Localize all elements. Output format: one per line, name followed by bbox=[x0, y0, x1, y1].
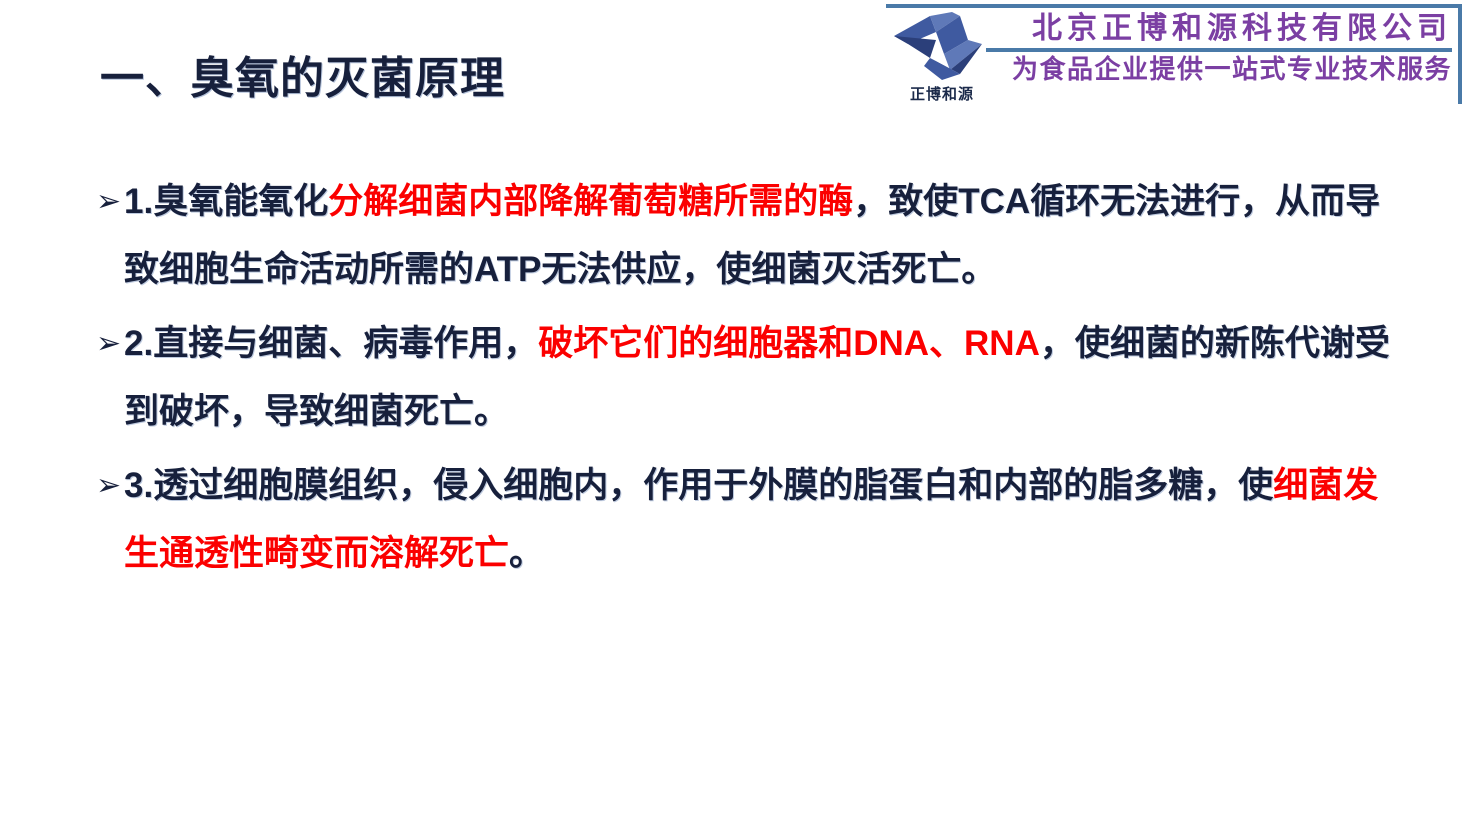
bullet-item: ➢1.臭氧能氧化分解细菌内部降解葡萄糖所需的酶，致使TCA循环无法进行，从而导致… bbox=[96, 168, 1396, 304]
company-name-rule bbox=[986, 48, 1452, 52]
company-logo-icon: 正博和源 bbox=[890, 10, 986, 106]
bullet-text: 2.直接与细菌、病毒作用，破坏它们的细胞器和DNA、RNA，使细菌的新陈代谢受到… bbox=[124, 310, 1396, 446]
highlighted-text-run: 分解细菌内部降解葡萄糖所需的酶 bbox=[328, 182, 853, 221]
bullet-item: ➢3.透过细胞膜组织，侵入细胞内，作用于外膜的脂蛋白和内部的脂多糖，使细菌发生通… bbox=[96, 452, 1396, 588]
bullet-text: 3.透过细胞膜组织，侵入细胞内，作用于外膜的脂蛋白和内部的脂多糖，使细菌发生通透… bbox=[124, 452, 1396, 588]
bullet-list: ➢1.臭氧能氧化分解细菌内部降解葡萄糖所需的酶，致使TCA循环无法进行，从而导致… bbox=[96, 168, 1396, 594]
text-run: 。 bbox=[509, 534, 544, 573]
company-logo-banner: 正博和源 北京正博和源科技有限公司 为食品企业提供一站式专业技术服务 bbox=[886, 4, 1462, 104]
slide-canvas: 正博和源 北京正博和源科技有限公司 为食品企业提供一站式专业技术服务 一、臭氧的… bbox=[0, 0, 1466, 824]
bullet-arrow-icon: ➢ bbox=[96, 310, 124, 378]
bullet-arrow-icon: ➢ bbox=[96, 452, 124, 520]
company-tagline: 为食品企业提供一站式专业技术服务 bbox=[986, 55, 1452, 85]
text-run: 1.臭氧能氧化 bbox=[124, 182, 328, 221]
text-run: 3.透过细胞膜组织，侵入细胞内，作用于外膜的脂蛋白和内部的脂多糖，使 bbox=[124, 466, 1273, 505]
logo-caption: 正博和源 bbox=[896, 83, 988, 104]
bullet-item: ➢2.直接与细菌、病毒作用，破坏它们的细胞器和DNA、RNA，使细菌的新陈代谢受… bbox=[96, 310, 1396, 446]
highlighted-text-run: 破坏它们的细胞器和DNA、RNA bbox=[538, 324, 1040, 363]
company-name: 北京正博和源科技有限公司 bbox=[986, 12, 1452, 46]
bullet-text: 1.臭氧能氧化分解细菌内部降解葡萄糖所需的酶，致使TCA循环无法进行，从而导致细… bbox=[124, 168, 1396, 304]
text-run: 2.直接与细菌、病毒作用， bbox=[124, 324, 538, 363]
slide-title: 一、臭氧的灭菌原理 bbox=[100, 42, 505, 106]
bullet-arrow-icon: ➢ bbox=[96, 168, 124, 236]
logo-text-block: 北京正博和源科技有限公司 为食品企业提供一站式专业技术服务 bbox=[986, 8, 1458, 84]
